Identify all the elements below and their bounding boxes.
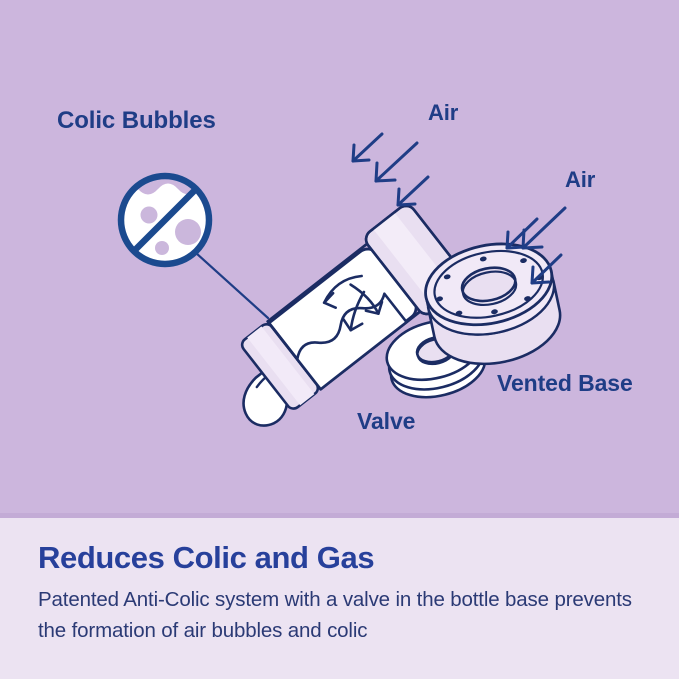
label-valve: Valve — [357, 408, 415, 435]
caption-body: Patented Anti-Colic system with a valve … — [38, 584, 641, 646]
label-colic-bubbles: Colic Bubbles — [57, 107, 216, 135]
caption-block: Reduces Colic and Gas Patented Anti-Coli… — [0, 518, 679, 646]
infographic-card: Colic Bubbles Air Air Valve Vented Base … — [0, 0, 679, 679]
bubble — [141, 207, 158, 224]
air-arrow — [353, 134, 382, 161]
label-air-right: Air — [565, 167, 595, 193]
no-symbol-icon — [118, 167, 214, 264]
caption-heading: Reduces Colic and Gas — [38, 540, 641, 576]
air-arrow — [376, 143, 417, 181]
air-arrow — [398, 177, 428, 205]
anti-colic-diagram — [0, 0, 679, 517]
label-air-top: Air — [428, 100, 458, 126]
label-vented-base: Vented Base — [497, 370, 633, 397]
bubble — [155, 241, 169, 255]
leader-line-colic-bubbles — [196, 253, 268, 318]
bubble — [175, 219, 201, 245]
air-arrows-left — [353, 134, 428, 205]
